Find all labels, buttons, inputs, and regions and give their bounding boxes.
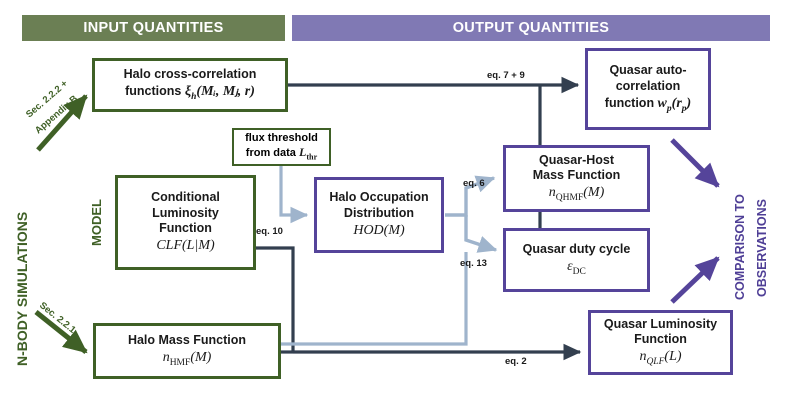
clf-math: CLF(L|M) [156,237,214,255]
banner-output-quantities: OUTPUT QUANTITIES [292,15,770,41]
qhmf-line1: Quasar-Host [539,153,614,169]
clf-line3: Function [159,221,212,237]
eq-label-6: eq. 6 [463,178,485,189]
node-quasar-host-mass-function[interactable]: Quasar-Host Mass Function nQHMF(M) [503,145,650,212]
eq-label-10: eq. 10 [256,226,283,237]
halo-xcorr-line2: functions ξh(Mᵢ, Mⱼ, r) [125,83,255,103]
qlf-math: nQLF(L) [639,348,681,368]
qacf-math: wp(rp) [658,96,692,111]
flux-threshold-line2: from data Lthr [246,145,317,163]
eq-label-2: eq. 2 [505,356,527,367]
arrow-qlf-to-comparison [672,258,718,302]
qacf-line3-prefix: function [605,96,658,110]
banner-input-quantities: INPUT QUANTITIES [22,15,285,41]
diagram-canvas: INPUT QUANTITIES OUTPUT QUANTITIES N-BOD… [0,0,789,404]
hmf-math: nHMF(M) [163,349,212,369]
label-n-body-simulations: N-BODY SIMULATIONS [14,212,30,366]
duty-cycle-math: εDC [567,258,586,278]
label-comparison-line1: COMPARISON TO [733,194,747,300]
arrow-qacf-to-comparison [672,140,718,186]
node-quasar-auto-correlation-function[interactable]: Quasar auto- correlation function wp(rp) [585,48,711,130]
clf-line1: Conditional [151,190,220,206]
eq-label-7-9: eq. 7 + 9 [487,70,525,81]
hod-line1: Halo Occupation [329,190,428,206]
qlf-line2: Function [634,332,687,348]
node-quasar-luminosity-function[interactable]: Quasar Luminosity Function nQLF(L) [588,310,733,375]
arrow-fluxthreshold-to-hod [281,166,307,215]
node-flux-threshold[interactable]: flux threshold from data Lthr [232,128,331,166]
connector-hmf-light-to-hod [281,252,466,344]
arrow-hod-to-dutycycle [466,215,496,250]
halo-xcorr-line2-prefix: functions [125,84,185,98]
qacf-line3: function wp(rp) [605,95,691,115]
node-halo-occupation-distribution[interactable]: Halo Occupation Distribution HOD(M) [314,177,444,253]
label-comparison-line2: OBSERVATIONS [755,199,769,297]
halo-xcorr-math: ξh(Mᵢ, Mⱼ, r) [185,84,255,99]
node-halo-mass-function[interactable]: Halo Mass Function nHMF(M) [93,323,281,379]
label-model: MODEL [89,199,104,246]
duty-cycle-line1: Quasar duty cycle [523,242,631,258]
eq-label-13: eq. 13 [460,258,487,269]
qacf-line1: Quasar auto- [609,63,686,79]
qhmf-line2: Mass Function [533,168,621,184]
qlf-line1: Quasar Luminosity [604,317,717,333]
flux-threshold-math: Lthr [299,145,317,159]
halo-xcorr-line1: Halo cross-correlation [124,67,257,83]
qacf-line2: correlation [616,79,681,95]
hmf-line1: Halo Mass Function [128,333,246,349]
node-quasar-duty-cycle[interactable]: Quasar duty cycle εDC [503,228,650,292]
clf-line2: Luminosity [152,206,219,222]
hod-line2: Distribution [344,206,414,222]
flux-threshold-line1: flux threshold [245,131,318,145]
hod-math: HOD(M) [353,222,404,240]
qhmf-math: nQHMF(M) [549,184,605,204]
node-halo-cross-correlation[interactable]: Halo cross-correlation functions ξh(Mᵢ, … [92,58,288,112]
node-conditional-luminosity-function[interactable]: Conditional Luminosity Function CLF(L|M) [115,175,256,270]
flux-threshold-line2-prefix: from data [246,147,299,159]
